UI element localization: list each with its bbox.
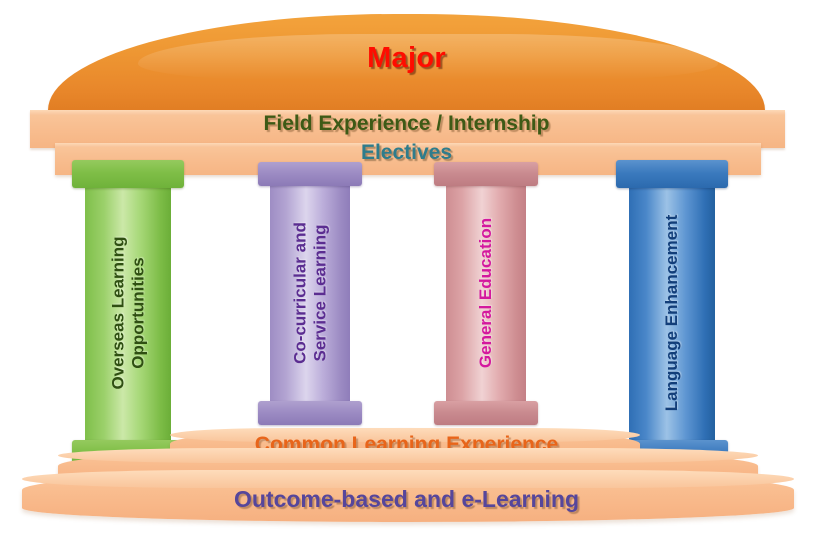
pillar-label-line1: Overseas Learning — [108, 236, 127, 389]
pillar-capital — [434, 162, 538, 186]
pillar-label-line1: General Education — [476, 217, 495, 367]
pillar-label-co-curricular: Co-curricular and Service Learning — [290, 222, 329, 364]
pillar-co-curricular-service-learning[interactable]: Co-curricular and Service Learning — [258, 160, 362, 425]
pillar-label-general-education: General Education — [476, 217, 496, 367]
pillar-base — [434, 401, 538, 425]
dome-label-major: Major — [0, 42, 813, 75]
pedestal-middle-face — [58, 448, 758, 463]
pillar-label-overseas-learning: Overseas Learning Opportunities — [108, 236, 147, 389]
pillar-language-enhancement[interactable]: Language Enhancement — [616, 158, 728, 468]
pillar-capital — [616, 160, 728, 188]
pillar-label-language-enhancement: Language Enhancement — [662, 215, 682, 411]
pillar-capital — [258, 162, 362, 186]
pillar-label-line2: Opportunities — [128, 236, 148, 389]
pillar-label-line2: Service Learning — [310, 222, 330, 364]
pillar-overseas-learning[interactable]: Overseas Learning Opportunities — [72, 158, 184, 468]
diagram-canvas: Major Field Experience / Internship Elec… — [0, 0, 813, 538]
entablature-label-field-experience: Field Experience / Internship — [0, 112, 813, 136]
pillar-base — [258, 401, 362, 425]
pedestal-label-outcome-based-elearning: Outcome-based and e-Learning — [0, 486, 813, 513]
pillar-general-education[interactable]: General Education — [434, 160, 538, 425]
pillar-capital — [72, 160, 184, 188]
pillar-label-line1: Language Enhancement — [662, 215, 681, 411]
pillar-label-line1: Co-curricular and — [290, 222, 309, 364]
